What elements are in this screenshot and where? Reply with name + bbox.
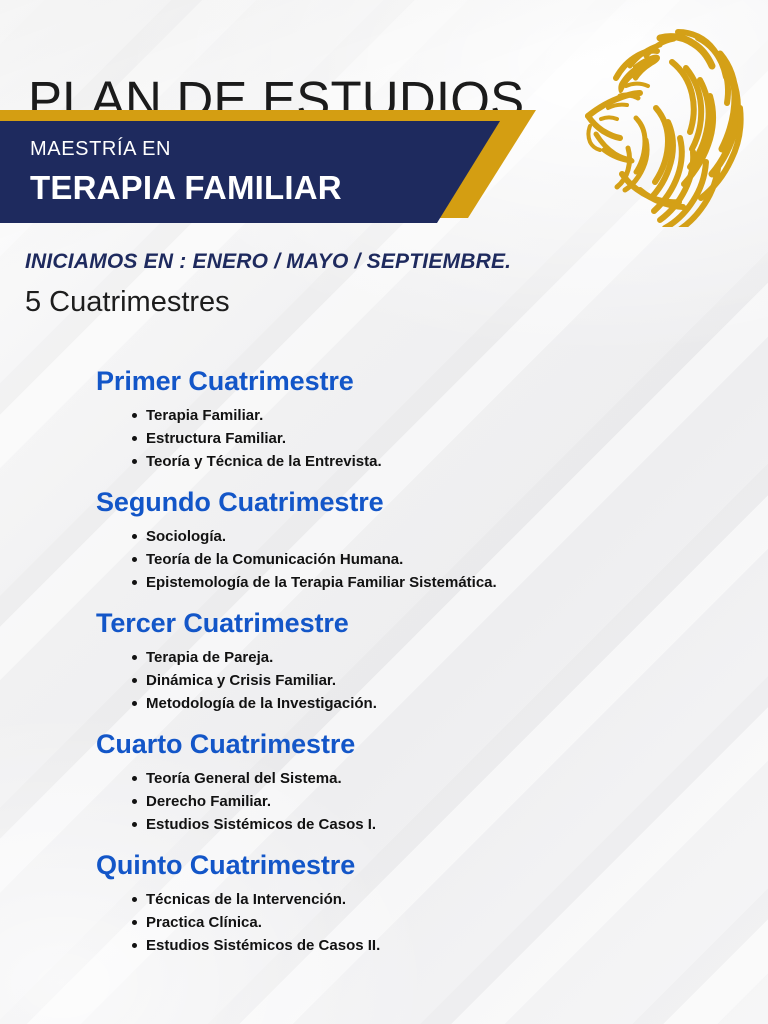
study-plan-poster: PLAN DE ESTUDIOS [0,0,768,1024]
banner-text-group: MAESTRÍA EN TERAPIA FAMILIAR [30,136,342,208]
term-title: Quinto Cuatrimestre [96,846,768,884]
course-item: Técnicas de la Intervención. [132,888,768,911]
curriculum-list: Primer Cuatrimestre Terapia Familiar. Es… [0,362,768,957]
term-block: Tercer Cuatrimestre Terapia de Pareja. D… [0,604,768,715]
course-item: Terapia Familiar. [132,404,768,427]
course-item: Terapia de Pareja. [132,646,768,669]
course-item: Dinámica y Crisis Familiar. [132,669,768,692]
term-block: Segundo Cuatrimestre Sociología. Teoría … [0,483,768,594]
term-title: Cuarto Cuatrimestre [96,725,768,763]
course-item: Sociología. [132,525,768,548]
lion-head-icon [560,22,760,227]
term-title: Primer Cuatrimestre [96,362,768,400]
program-banner: MAESTRÍA EN TERAPIA FAMILIAR [0,110,536,226]
course-item: Metodología de la Investigación. [132,692,768,715]
term-block: Quinto Cuatrimestre Técnicas de la Inter… [0,846,768,957]
course-item: Estudios Sistémicos de Casos II. [132,934,768,957]
course-item: Teoría y Técnica de la Entrevista. [132,450,768,473]
term-title: Segundo Cuatrimestre [96,483,768,521]
course-list: Sociología. Teoría de la Comunicación Hu… [96,525,768,594]
program-duration: 5 Cuatrimestres [25,283,230,321]
course-list: Terapia Familiar. Estructura Familiar. T… [96,404,768,473]
intake-months: INICIAMOS EN : ENERO / MAYO / SEPTIEMBRE… [25,248,511,275]
term-block: Cuarto Cuatrimestre Teoría General del S… [0,725,768,836]
course-item: Derecho Familiar. [132,790,768,813]
course-list: Técnicas de la Intervención. Practica Cl… [96,888,768,957]
course-item: Practica Clínica. [132,911,768,934]
course-item: Teoría General del Sistema. [132,767,768,790]
banner-program-name: TERAPIA FAMILIAR [30,168,342,208]
course-item: Teoría de la Comunicación Humana. [132,548,768,571]
course-item: Estudios Sistémicos de Casos I. [132,813,768,836]
banner-eyebrow: MAESTRÍA EN [30,136,342,162]
course-item: Epistemología de la Terapia Familiar Sis… [132,571,768,594]
course-item: Estructura Familiar. [132,427,768,450]
course-list: Teoría General del Sistema. Derecho Fami… [96,767,768,836]
term-block: Primer Cuatrimestre Terapia Familiar. Es… [0,362,768,473]
term-title: Tercer Cuatrimestre [96,604,768,642]
course-list: Terapia de Pareja. Dinámica y Crisis Fam… [96,646,768,715]
